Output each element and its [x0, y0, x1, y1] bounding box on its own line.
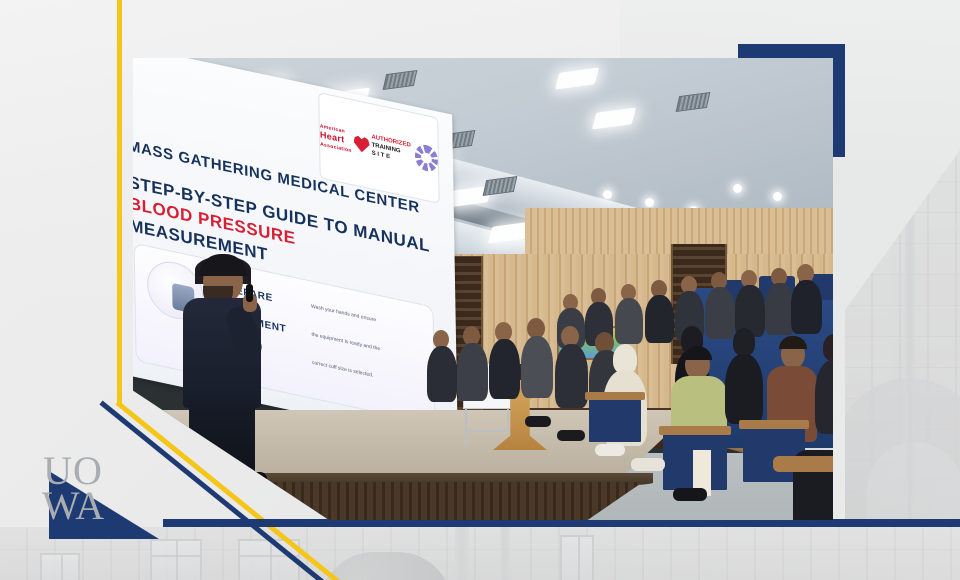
- logo-line-2-row: WA: [30, 488, 116, 524]
- seat-armrest: [585, 392, 645, 400]
- ceiling-spotlight: [773, 192, 782, 201]
- audience-body: [521, 336, 553, 398]
- logo-line-2: WA: [42, 488, 104, 524]
- audience-shoe: [525, 416, 551, 427]
- audience-body: [615, 298, 643, 344]
- foreground-seat-armrest: [773, 456, 833, 472]
- audience-shoe-light: [631, 458, 665, 471]
- ceiling-light: [555, 67, 599, 89]
- theatre-seat-front: [589, 398, 641, 442]
- audience-shoe: [557, 430, 585, 441]
- handheld-microphone: [246, 284, 253, 302]
- ceiling-spotlight: [645, 198, 654, 207]
- audience-shoe-light: [595, 444, 625, 456]
- whiteboard-stand: [465, 408, 509, 446]
- building-window: [560, 535, 594, 580]
- audience-body: [555, 344, 588, 408]
- seat-armrest: [659, 426, 731, 435]
- heart-icon: [353, 135, 369, 154]
- american-heart-association-logo: American Heart Association AUTHORIZED TR…: [320, 123, 411, 166]
- gear-icon: [415, 143, 438, 174]
- audience-body: [725, 354, 763, 424]
- projection-screen: American Heart Association AUTHORIZED TR…: [133, 58, 458, 446]
- ceiling-light: [592, 107, 636, 129]
- audience-shoe: [673, 488, 707, 501]
- uowa-logo: UO WA: [30, 455, 116, 519]
- yellow-accent-line: [117, 0, 122, 405]
- banner-canvas: American Heart Association AUTHORIZED TR…: [0, 0, 960, 580]
- audience-head-scarf: [823, 334, 833, 361]
- building-column: [500, 527, 510, 580]
- audience-body: [489, 339, 520, 399]
- audience-head-scarf: [733, 328, 755, 356]
- slide-step-text-3: correct cuff size is selected.: [312, 360, 432, 393]
- audience-body: [427, 346, 457, 402]
- aha-text-block: American Heart Association: [320, 123, 352, 154]
- event-photo: American Heart Association AUTHORIZED TR…: [133, 58, 833, 520]
- audience-body: [645, 295, 674, 343]
- ceiling-spotlight: [733, 184, 742, 193]
- authorized-training-site-text: AUTHORIZED TRAINING S I T E: [371, 135, 411, 167]
- audience-body: [705, 287, 735, 339]
- audience-body: [457, 343, 488, 401]
- building-window: [150, 539, 202, 580]
- seat-armrest: [739, 420, 809, 429]
- whiteboard-crossbar: [465, 430, 509, 432]
- ceiling-vent: [383, 70, 418, 90]
- slide-step-text-1: Wash your hands and ensure: [311, 303, 431, 336]
- building-window: [40, 553, 80, 580]
- ceiling-vent: [676, 92, 711, 112]
- slide-step-text-2: the equipment is ready and the: [311, 332, 431, 365]
- building-column: [455, 527, 469, 580]
- audience-body: [791, 280, 822, 334]
- ceiling-spotlight: [603, 190, 612, 199]
- navy-underline-band: [163, 519, 960, 527]
